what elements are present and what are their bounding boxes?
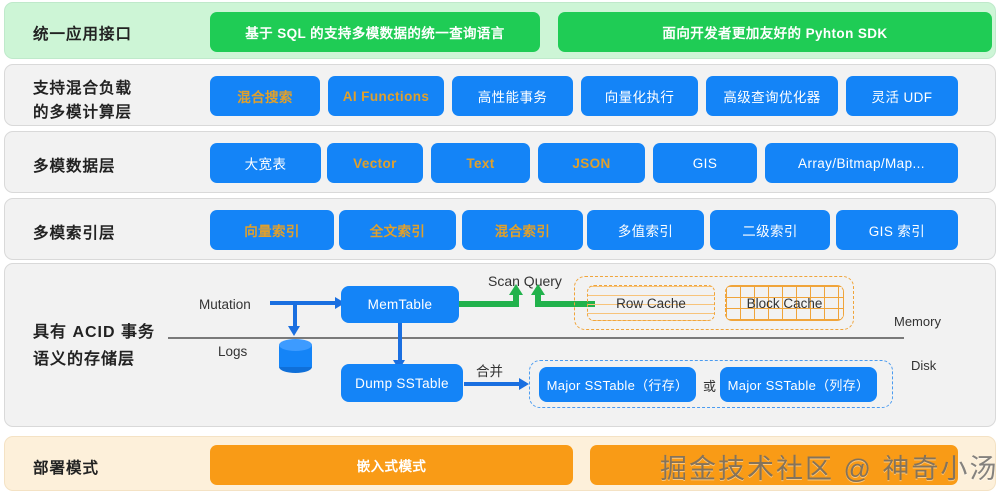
- pill-vector-index[interactable]: 向量索引: [210, 210, 334, 250]
- arrow-scan-memtable-head-icon: [509, 284, 523, 295]
- arrow-dump-to-major: [464, 382, 526, 386]
- storage-label-line-2: 语义的存储层: [33, 346, 155, 373]
- row-label-data-layer: 多模数据层: [33, 154, 116, 176]
- arrow-logs-head-icon: [288, 326, 300, 336]
- label-merge: 合并: [476, 360, 503, 380]
- row-label-unified-api: 统一应用接口: [33, 22, 132, 44]
- pill-array-bitmap-map[interactable]: Array/Bitmap/Map...: [765, 143, 958, 183]
- architecture-diagram: 统一应用接口 基于 SQL 的支持多模数据的统一查询语言 面向开发者更加友好的 …: [0, 0, 1000, 493]
- cache-row-cache[interactable]: Row Cache: [587, 285, 715, 321]
- node-major-sstable-row[interactable]: Major SSTable（行存）: [539, 367, 696, 402]
- logs-cylinder-icon: [279, 339, 312, 373]
- row-label-deploy-mode: 部署模式: [33, 456, 99, 478]
- arrow-major-head-icon: [519, 378, 529, 390]
- pill-hybrid-index[interactable]: 混合索引: [462, 210, 583, 250]
- storage-label-line-1: 具有 ACID 事务: [33, 319, 155, 346]
- row-label-line-2: 的多模计算层: [33, 101, 132, 125]
- node-major-sstable-col[interactable]: Major SSTable（列存）: [720, 367, 877, 402]
- row-storage-layer: 具有 ACID 事务 语义的存储层 Mutation Logs MemTable…: [4, 263, 996, 427]
- pill-vectorized-execution[interactable]: 向量化执行: [581, 76, 698, 116]
- arrow-scan-cache-head-icon: [531, 284, 545, 295]
- arrow-scan-from-memtable: [459, 301, 519, 307]
- pill-hybrid-search[interactable]: 混合搜索: [210, 76, 320, 116]
- label-mutation: Mutation: [199, 297, 251, 312]
- pill-advanced-query-optimizer[interactable]: 高级查询优化器: [706, 76, 838, 116]
- pill-wide-table[interactable]: 大宽表: [210, 143, 321, 183]
- label-or: 或: [703, 376, 716, 395]
- label-disk: Disk: [911, 358, 936, 373]
- pill-high-performance-transaction[interactable]: 高性能事务: [452, 76, 573, 116]
- row-data-layer: 多模数据层 大宽表 Vector Text JSON GIS Array/Bit…: [4, 131, 996, 193]
- pill-secondary-index[interactable]: 二级索引: [710, 210, 830, 250]
- pill-gis[interactable]: GIS: [653, 143, 757, 183]
- label-scan-query: Scan Query: [488, 273, 562, 289]
- pill-flexible-udf[interactable]: 灵活 UDF: [846, 76, 958, 116]
- pill-gis-index[interactable]: GIS 索引: [836, 210, 958, 250]
- arrow-scan-cache-stem: [535, 294, 541, 307]
- pill-embedded-mode[interactable]: 嵌入式模式: [210, 445, 573, 485]
- pill-vector[interactable]: Vector: [327, 143, 423, 183]
- pill-sql-query-language[interactable]: 基于 SQL 的支持多模数据的统一查询语言: [210, 12, 540, 52]
- arrow-scan-memtable-stem: [513, 294, 519, 307]
- pill-ai-functions[interactable]: AI Functions: [328, 76, 444, 116]
- label-logs: Logs: [218, 344, 247, 359]
- pill-multivalue-index[interactable]: 多值索引: [587, 210, 704, 250]
- label-memory: Memory: [894, 314, 941, 329]
- row-label-compute-layer: 支持混合负载 的多模计算层: [33, 77, 132, 125]
- row-label-index-layer: 多模索引层: [33, 221, 116, 243]
- watermark: 掘金技术社区 @ 神奇小汤圆: [660, 447, 1000, 486]
- arrow-memtable-to-dump: [398, 323, 402, 365]
- row-index-layer: 多模索引层 向量索引 全文索引 混合索引 多值索引 二级索引 GIS 索引: [4, 198, 996, 260]
- cache-block-cache[interactable]: Block Cache: [725, 285, 844, 321]
- pill-fulltext-index[interactable]: 全文索引: [339, 210, 456, 250]
- row-compute-layer: 支持混合负载 的多模计算层 混合搜索 AI Functions 高性能事务 向量…: [4, 64, 996, 126]
- row-label-storage-layer: 具有 ACID 事务 语义的存储层: [33, 319, 155, 373]
- node-dump-sstable[interactable]: Dump SSTable: [341, 364, 463, 402]
- row-unified-api: 统一应用接口 基于 SQL 的支持多模数据的统一查询语言 面向开发者更加友好的 …: [4, 2, 996, 59]
- pill-json[interactable]: JSON: [538, 143, 645, 183]
- pill-python-sdk[interactable]: 面向开发者更加友好的 Pyhton SDK: [558, 12, 992, 52]
- node-memtable[interactable]: MemTable: [341, 286, 459, 323]
- pill-text[interactable]: Text: [431, 143, 530, 183]
- arrow-mutation-to-memtable: [270, 301, 340, 305]
- row-label-line-1: 支持混合负载: [33, 77, 132, 101]
